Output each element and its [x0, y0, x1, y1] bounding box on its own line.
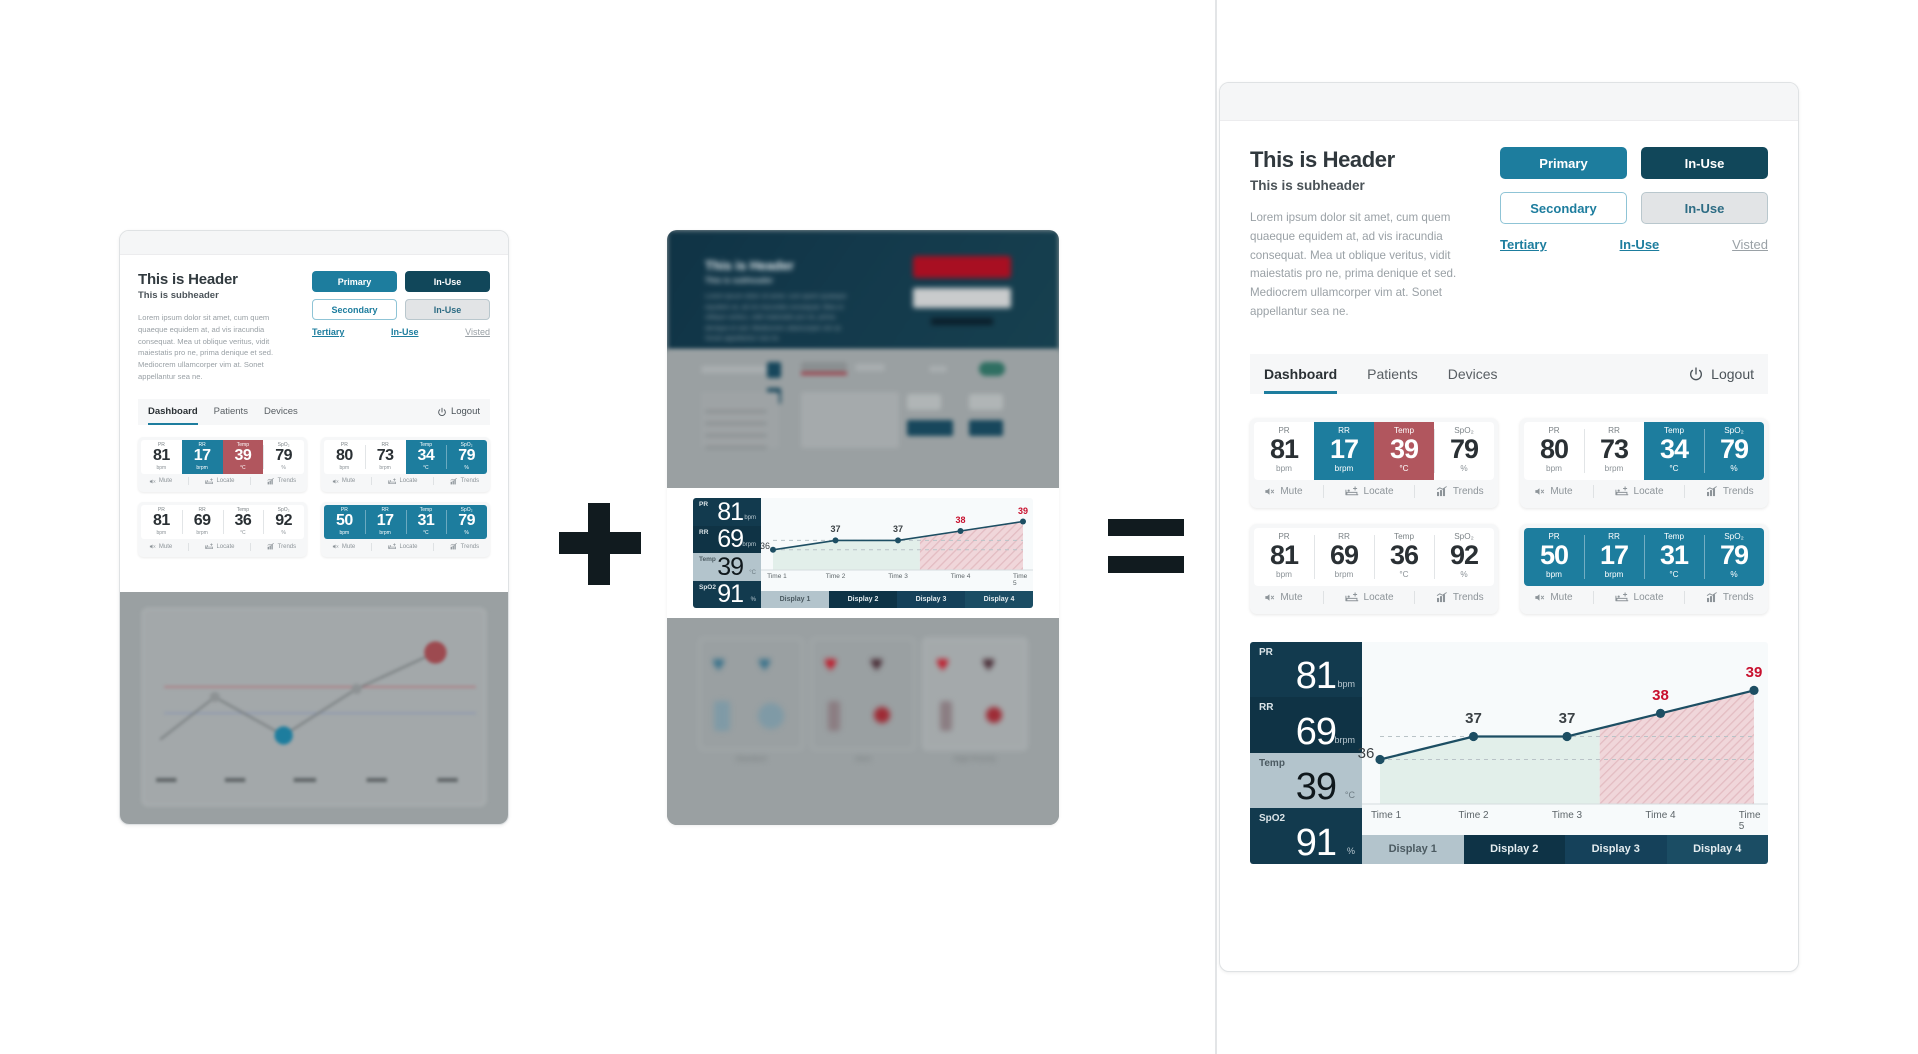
mute-action[interactable]: Mute: [332, 543, 355, 550]
x-axis-tick-5: Time 5: [1013, 573, 1027, 587]
tab-patients[interactable]: Patients: [214, 399, 248, 425]
vital-cell-pr[interactable]: PR 50 bpm: [1524, 528, 1584, 586]
logout-button-large[interactable]: Logout: [1688, 366, 1754, 382]
bar-chart-trends-icon: [267, 478, 275, 485]
bar-chart-trends-icon: [450, 478, 458, 485]
x-axis-tick-3: Time 3: [1552, 810, 1582, 821]
bed-locate-icon: [388, 543, 397, 550]
action-separator: [1323, 591, 1324, 604]
vital-unit: %: [263, 465, 304, 471]
trend-plot-mini: 3637373839Time 1Time 2Time 3Time 4Time 5: [761, 498, 1033, 591]
tab-dashboard-large[interactable]: Dashboard: [1264, 354, 1337, 394]
action-separator: [371, 477, 372, 485]
trends-action[interactable]: Trends: [1436, 592, 1484, 603]
data-point-2[interactable]: [1469, 732, 1478, 741]
vital-value: 36: [1374, 542, 1434, 569]
locate-label: Locate: [399, 544, 417, 550]
speaker-mute-icon: [332, 478, 339, 485]
vital-unit: bpm: [141, 465, 182, 471]
vital-unit: °C: [223, 530, 264, 536]
vitals-readout-row: PR 50 bpm RR 17 brpm Temp 31 °C SpO₂ 79 …: [1524, 528, 1764, 586]
blurred-line-chart: [142, 608, 486, 806]
action-separator: [1684, 591, 1685, 604]
tertiary-inuse-link-large[interactable]: In-Use: [1620, 237, 1660, 252]
focused-trend-section: PR 81 bpm RR 69 brpm Temp 39 °C SpO2 91 …: [667, 488, 1059, 618]
alert-range-band: [1600, 690, 1754, 804]
vitals-readout-row: PR 80 bpm RR 73 brpm Temp 34 °C SpO₂ 79 …: [1524, 422, 1764, 480]
trends-action[interactable]: Trends: [1706, 486, 1754, 497]
left-panel-body: This is Header This is subheader Lorem i…: [120, 255, 508, 383]
vital-cell-rr[interactable]: RR 17 brpm: [1584, 528, 1644, 586]
trend-tile-unit: bpm: [1337, 679, 1355, 689]
vitals-action-row: Mute Locate Trends: [1254, 586, 1494, 610]
secondary-button-large[interactable]: Secondary: [1500, 192, 1627, 224]
trend-tile-spo2[interactable]: SpO2 91 %: [1250, 808, 1362, 864]
vital-unit: brpm: [365, 530, 406, 536]
speaker-mute-icon: [1534, 486, 1545, 497]
mute-action[interactable]: Mute: [1264, 592, 1302, 603]
trend-tile-pr[interactable]: PR 81 bpm: [1250, 642, 1362, 698]
data-point-label-5: 39: [1018, 506, 1028, 516]
logout-button[interactable]: Logout: [437, 406, 480, 417]
display-tab-2[interactable]: Display 2: [829, 591, 897, 608]
mute-label: Mute: [342, 478, 355, 484]
trends-action[interactable]: Trends: [1436, 486, 1484, 497]
window-chrome-bar-large: [1220, 83, 1798, 121]
vital-cell-temp[interactable]: Temp 31 °C: [1644, 528, 1704, 586]
main-nav-large: Dashboard Patients Devices Logout: [1250, 354, 1768, 394]
bed-locate-icon: [1345, 486, 1359, 497]
data-point-label-2: 37: [1465, 710, 1482, 727]
x-axis-tick-2: Time 2: [826, 573, 846, 580]
vital-value: 39: [223, 448, 264, 465]
trend-tile-spo2[interactable]: SpO2 91 %: [693, 581, 761, 609]
bar-chart-trends-icon: [1706, 486, 1718, 497]
blurred-dark-header: This is Header This is subheader Lorem i…: [667, 230, 1059, 350]
locate-label: Locate: [1364, 486, 1394, 497]
vitals-action-row: Mute Locate Trends: [324, 539, 487, 554]
vital-cell-rr[interactable]: RR 69 brpm: [1314, 528, 1374, 586]
data-point-label-1: 36: [760, 541, 770, 551]
speaker-mute-icon: [149, 478, 156, 485]
bed-locate-icon: [205, 543, 214, 550]
blurred-tertiary-link: [931, 318, 993, 325]
locate-action[interactable]: Locate: [1345, 592, 1394, 603]
blurred-chart-overlay: [120, 592, 508, 824]
vital-value: 17: [365, 513, 406, 530]
vital-cell-rr[interactable]: RR 73 brpm: [365, 440, 406, 474]
vitals-card[interactable]: PR 50 bpm RR 17 brpm Temp 31 °C SpO₂ 79 …: [1520, 524, 1768, 614]
secondary-inuse-button-large[interactable]: In-Use: [1641, 192, 1768, 224]
trends-label: Trends: [278, 478, 296, 484]
intro-paragraph: Lorem ipsum dolor sit amet, cum quem qua…: [138, 312, 288, 383]
vital-unit: bpm: [324, 465, 365, 471]
tab-dashboard[interactable]: Dashboard: [148, 399, 198, 425]
primary-inuse-button-large[interactable]: In-Use: [1641, 147, 1768, 179]
trend-tile-label: RR: [699, 529, 708, 536]
vital-value: 36: [223, 513, 264, 530]
mute-label: Mute: [159, 544, 172, 550]
vital-unit: %: [1704, 569, 1764, 581]
bed-locate-icon: [1345, 592, 1359, 603]
data-point-3[interactable]: [895, 537, 901, 543]
right-panel-body: This is Header This is subheader Lorem i…: [1220, 121, 1798, 322]
vitals-readout-row: PR 80 bpm RR 73 brpm Temp 34 °C SpO₂ 79 …: [324, 440, 487, 474]
trend-tile-value: 69: [717, 527, 743, 552]
trend-tile-pr[interactable]: PR 81 bpm: [693, 498, 761, 526]
locate-label: Locate: [1634, 486, 1664, 497]
tab-devices-large[interactable]: Devices: [1448, 354, 1498, 394]
action-separator: [250, 477, 251, 485]
vital-cell-spo[interactable]: SpO₂ 79 %: [263, 440, 304, 474]
vital-unit: bpm: [1524, 569, 1584, 581]
vital-unit: %: [1434, 463, 1494, 475]
vital-cell-rr[interactable]: RR 17 brpm: [365, 505, 406, 539]
trend-tile-temp[interactable]: Temp 39 °C: [1250, 753, 1362, 809]
vital-unit: °C: [1374, 569, 1434, 581]
plus-operator-icon: [556, 500, 646, 590]
trend-tile-value: 39: [1296, 768, 1336, 806]
vital-cell-spo[interactable]: SpO₂ 79 %: [1704, 528, 1764, 586]
tab-devices[interactable]: Devices: [264, 399, 298, 425]
vital-unit: brpm: [1584, 569, 1644, 581]
blurred-icon-group-standard: ♥ ♥: [699, 638, 803, 750]
speaker-mute-icon: [332, 543, 339, 550]
trend-tile-unit: brpm: [1334, 735, 1355, 745]
data-point-1[interactable]: [770, 547, 776, 553]
trends-label: Trends: [278, 544, 296, 550]
locate-label: Locate: [216, 544, 234, 550]
data-point-4[interactable]: [1656, 709, 1665, 718]
bar-chart-trends-icon: [267, 543, 275, 550]
locate-action[interactable]: Locate: [205, 478, 235, 485]
vital-value: 79: [1704, 542, 1764, 569]
vital-cell-temp[interactable]: Temp 39 °C: [223, 440, 264, 474]
speaker-mute-icon: [149, 543, 156, 550]
trends-label: Trends: [1453, 486, 1484, 497]
right-button-group: Primary In-Use Secondary In-Use Tertiary…: [1500, 147, 1768, 322]
display-tab-3[interactable]: Display 3: [1565, 835, 1667, 864]
vital-unit: %: [446, 465, 487, 471]
vital-unit: bpm: [141, 530, 182, 536]
power-icon: [437, 407, 447, 417]
logout-label-large: Logout: [1711, 366, 1754, 382]
vital-unit: °C: [223, 465, 264, 471]
trend-tile-value: 81: [1296, 657, 1336, 695]
blurred-icon-group-high-priority: ♥ ♥: [923, 638, 1027, 750]
vital-cell-temp[interactable]: Temp 36 °C: [223, 505, 264, 539]
display-tab-4[interactable]: Display 4: [1667, 835, 1769, 864]
trend-chart-widget: PR 81 bpm RR 69 brpm Temp 39 °C SpO2 91 …: [1250, 642, 1768, 864]
vital-cell-rr[interactable]: RR 69 brpm: [182, 505, 223, 539]
display-tab-3[interactable]: Display 3: [897, 591, 965, 608]
display-tab-2[interactable]: Display 2: [1464, 835, 1566, 864]
vital-cell-spo[interactable]: SpO₂ 92 %: [1434, 528, 1494, 586]
vitals-action-row: Mute Locate Trends: [141, 474, 304, 489]
trends-label: Trends: [1453, 592, 1484, 603]
vital-unit: %: [263, 530, 304, 536]
trend-tile-label: PR: [699, 501, 708, 508]
vital-value: 73: [365, 448, 406, 465]
data-point-label-3: 37: [893, 524, 903, 534]
trend-tile-temp[interactable]: Temp 39 °C: [693, 553, 761, 581]
data-point-5[interactable]: [1020, 519, 1026, 525]
page-title-large: This is Header: [1250, 147, 1474, 173]
data-point-5[interactable]: [1749, 686, 1758, 695]
vital-value: 31: [1644, 542, 1704, 569]
locate-action[interactable]: Locate: [1345, 486, 1394, 497]
vital-cell-temp[interactable]: Temp 39 °C: [1374, 422, 1434, 480]
blurred-caption-high-priority: High Priority: [923, 756, 1027, 763]
action-separator: [1414, 485, 1415, 498]
vital-unit: bpm: [324, 530, 365, 536]
x-axis-tick-4: Time 4: [951, 573, 971, 580]
mute-label: Mute: [159, 478, 172, 484]
trend-tile-value: 91: [1296, 824, 1336, 862]
mute-action[interactable]: Mute: [149, 478, 172, 485]
trend-tile-unit: %: [1347, 846, 1355, 856]
blurred-icon-section: ♥ ♥ Standard ♥ ♥ Alert ♥ ♥: [667, 618, 1059, 825]
vital-value: 34: [406, 448, 447, 465]
bed-locate-icon: [1615, 486, 1629, 497]
blurred-caption-alert: Alert: [811, 756, 915, 763]
vital-unit: bpm: [1524, 463, 1584, 475]
vitals-readout-row: PR 50 bpm RR 17 brpm Temp 31 °C SpO₂ 79 …: [324, 505, 487, 539]
bed-locate-icon: [388, 478, 397, 485]
locate-action[interactable]: Locate: [1615, 486, 1664, 497]
action-separator: [1593, 485, 1594, 498]
vitals-card-grid-large: PR 81 bpm RR 17 brpm Temp 39 °C SpO₂ 79 …: [1250, 418, 1768, 614]
vital-cell-temp[interactable]: Temp 34 °C: [406, 440, 447, 474]
vitals-action-row: Mute Locate Trends: [1254, 480, 1494, 504]
vitals-card[interactable]: PR 80 bpm RR 73 brpm Temp 34 °C SpO₂ 79 …: [321, 437, 490, 492]
logout-label: Logout: [451, 406, 480, 417]
vital-unit: °C: [1374, 463, 1434, 475]
trend-display-tabs-mini: Display 1 Display 2 Display 3 Display 4: [761, 591, 1033, 608]
vital-cell-pr[interactable]: PR 80 bpm: [1524, 422, 1584, 480]
window-chrome-bar: [120, 231, 508, 255]
tertiary-visited-link[interactable]: Visted: [465, 327, 490, 337]
mute-action[interactable]: Mute: [1534, 592, 1572, 603]
vital-value: 81: [141, 448, 182, 465]
blurred-caption-standard: Standard: [699, 756, 803, 763]
vitals-card[interactable]: PR 81 bpm RR 69 brpm Temp 36 °C SpO₂ 92 …: [1250, 524, 1498, 614]
locate-action[interactable]: Locate: [205, 543, 235, 550]
vital-unit: %: [1434, 569, 1494, 581]
vitals-readout-row: PR 81 bpm RR 69 brpm Temp 36 °C SpO₂ 92 …: [1254, 528, 1494, 586]
data-point-label-1: 36: [1358, 745, 1375, 762]
vital-cell-pr[interactable]: PR 81 bpm: [1254, 422, 1314, 480]
speaker-mute-icon: [1264, 592, 1275, 603]
vital-cell-spo[interactable]: SpO₂ 92 %: [263, 505, 304, 539]
vitals-readout-row: PR 81 bpm RR 69 brpm Temp 36 °C SpO₂ 92 …: [141, 505, 304, 539]
vitals-card[interactable]: PR 81 bpm RR 17 brpm Temp 39 °C SpO₂ 79 …: [138, 437, 307, 492]
mute-action[interactable]: Mute: [1264, 486, 1302, 497]
design-panel-middle: This is Header This is subheader Lorem i…: [667, 230, 1059, 825]
vitals-card[interactable]: PR 81 bpm RR 17 brpm Temp 39 °C SpO₂ 79 …: [1250, 418, 1498, 508]
data-point-3[interactable]: [1562, 732, 1571, 741]
vital-cell-rr[interactable]: RR 73 brpm: [1584, 422, 1644, 480]
primary-inuse-button[interactable]: In-Use: [405, 271, 490, 292]
primary-button-large[interactable]: Primary: [1500, 147, 1627, 179]
vital-cell-spo[interactable]: SpO₂ 79 %: [1704, 422, 1764, 480]
vitals-card[interactable]: PR 50 bpm RR 17 brpm Temp 31 °C SpO₂ 79 …: [321, 502, 490, 557]
trends-action[interactable]: Trends: [450, 543, 479, 550]
locate-label: Locate: [1634, 592, 1664, 603]
trend-plot: 3637373839Time 1Time 2Time 3Time 4Time 5: [1362, 642, 1768, 835]
vital-cell-temp[interactable]: Temp 31 °C: [406, 505, 447, 539]
mute-action[interactable]: Mute: [332, 478, 355, 485]
primary-button[interactable]: Primary: [312, 271, 397, 292]
vital-cell-rr[interactable]: RR 17 brpm: [1314, 422, 1374, 480]
intro-paragraph-large: Lorem ipsum dolor sit amet, cum quem qua…: [1250, 209, 1474, 322]
data-point-4[interactable]: [958, 528, 964, 534]
tertiary-visited-link-large[interactable]: Visted: [1732, 237, 1768, 252]
blurred-header-paragraph: Lorem ipsum dolor sit amet, cum quem qua…: [705, 292, 857, 345]
data-point-label-4: 38: [955, 515, 965, 525]
blurred-form-section: [667, 350, 1059, 488]
vital-unit: °C: [406, 465, 447, 471]
action-separator: [1593, 591, 1594, 604]
main-nav: Dashboard Patients Devices Logout: [138, 399, 490, 425]
tertiary-inuse-link[interactable]: In-Use: [391, 327, 419, 337]
trends-action[interactable]: Trends: [267, 543, 296, 550]
trend-tile-label: SpO2: [699, 584, 716, 591]
vital-cell-pr[interactable]: PR 50 bpm: [324, 505, 365, 539]
vitals-readout-row: PR 81 bpm RR 17 brpm Temp 39 °C SpO₂ 79 …: [141, 440, 304, 474]
trend-tile-value: 91: [717, 582, 743, 607]
bed-locate-icon: [205, 478, 214, 485]
tab-patients-large[interactable]: Patients: [1367, 354, 1418, 394]
vital-cell-pr[interactable]: PR 81 bpm: [141, 505, 182, 539]
blurred-header-title: This is Header: [705, 258, 794, 273]
trend-tile-rr[interactable]: RR 69 brpm: [693, 526, 761, 554]
vital-unit: bpm: [1254, 463, 1314, 475]
mute-action[interactable]: Mute: [149, 543, 172, 550]
vital-cell-pr[interactable]: PR 81 bpm: [141, 440, 182, 474]
locate-action[interactable]: Locate: [388, 478, 418, 485]
blurred-icon-group-alert: ♥ ♥: [811, 638, 915, 750]
trend-tile-label: SpO2: [1259, 813, 1285, 824]
trend-tiles-mini: PR 81 bpm RR 69 brpm Temp 39 °C SpO2 91 …: [693, 498, 761, 608]
vital-cell-temp[interactable]: Temp 36 °C: [1374, 528, 1434, 586]
trend-tile-value: 39: [717, 555, 743, 580]
bar-chart-trends-icon: [450, 543, 458, 550]
bar-chart-trends-icon: [1706, 592, 1718, 603]
vital-value: 73: [1584, 436, 1644, 463]
vital-cell-spo[interactable]: SpO₂ 79 %: [446, 505, 487, 539]
vitals-action-row: Mute Locate Trends: [1524, 586, 1764, 610]
x-axis-tick-1: Time 1: [767, 573, 787, 580]
data-point-2[interactable]: [833, 537, 839, 543]
blurred-secondary-button: [913, 288, 1011, 308]
vitals-card[interactable]: PR 80 bpm RR 73 brpm Temp 34 °C SpO₂ 79 …: [1520, 418, 1768, 508]
trend-tile-rr[interactable]: RR 69 brpm: [1250, 697, 1362, 753]
vital-cell-spo[interactable]: SpO₂ 79 %: [446, 440, 487, 474]
mute-action[interactable]: Mute: [1534, 486, 1572, 497]
vital-unit: brpm: [1314, 569, 1374, 581]
trends-label: Trends: [1723, 486, 1754, 497]
vitals-action-row: Mute Locate Trends: [141, 539, 304, 554]
vital-value: 50: [324, 513, 365, 530]
trend-tile-unit: brpm: [742, 542, 756, 548]
vital-cell-rr[interactable]: RR 17 brpm: [182, 440, 223, 474]
trends-action[interactable]: Trends: [450, 478, 479, 485]
vital-cell-pr[interactable]: PR 81 bpm: [1254, 528, 1314, 586]
x-axis-tick-2: Time 2: [1458, 810, 1488, 821]
secondary-button[interactable]: Secondary: [312, 299, 397, 320]
x-axis-tick-5: Time 5: [1739, 810, 1761, 832]
mute-label: Mute: [342, 544, 355, 550]
vital-value: 80: [324, 448, 365, 465]
vital-value: 92: [1434, 542, 1494, 569]
vital-value: 79: [446, 513, 487, 530]
vital-value: 79: [263, 448, 304, 465]
action-separator: [188, 477, 189, 485]
data-point-label-3: 37: [1559, 710, 1576, 727]
secondary-inuse-button[interactable]: In-Use: [405, 299, 490, 320]
vital-unit: brpm: [1314, 463, 1374, 475]
trend-tile-label: Temp: [1259, 758, 1285, 769]
vital-value: 39: [1374, 436, 1434, 463]
vital-unit: °C: [406, 530, 447, 536]
vertical-divider: [1215, 0, 1217, 1054]
display-tab-1[interactable]: Display 1: [1362, 835, 1464, 864]
trends-label: Trends: [461, 478, 479, 484]
vital-unit: °C: [1644, 463, 1704, 475]
bed-locate-icon: [1615, 592, 1629, 603]
action-separator: [433, 543, 434, 551]
vital-value: 50: [1524, 542, 1584, 569]
trends-action[interactable]: Trends: [1706, 592, 1754, 603]
display-tab-1[interactable]: Display 1: [761, 591, 829, 608]
vital-unit: brpm: [182, 465, 223, 471]
trends-action[interactable]: Trends: [267, 478, 296, 485]
trend-tile-unit: °C: [749, 570, 756, 576]
tertiary-link[interactable]: Tertiary: [312, 327, 344, 337]
vital-value: 81: [141, 513, 182, 530]
left-button-group: Primary In-Use Secondary In-Use Tertiary…: [312, 271, 490, 383]
vital-value: 17: [1314, 436, 1374, 463]
speaker-mute-icon: [1264, 486, 1275, 497]
vital-cell-spo[interactable]: SpO₂ 79 %: [1434, 422, 1494, 480]
vitals-card-grid: PR 81 bpm RR 17 brpm Temp 39 °C SpO₂ 79 …: [138, 437, 490, 558]
data-point-1[interactable]: [1375, 755, 1384, 764]
vital-cell-temp[interactable]: Temp 34 °C: [1644, 422, 1704, 480]
vital-unit: %: [1704, 463, 1764, 475]
action-separator: [250, 543, 251, 551]
trend-display-tabs: Display 1 Display 2 Display 3 Display 4: [1362, 835, 1768, 864]
vital-value: 31: [406, 513, 447, 530]
tertiary-link-large[interactable]: Tertiary: [1500, 237, 1547, 252]
locate-label: Locate: [216, 478, 234, 484]
vitals-card[interactable]: PR 81 bpm RR 69 brpm Temp 36 °C SpO₂ 92 …: [138, 502, 307, 557]
vital-unit: brpm: [182, 530, 223, 536]
trend-tiles: PR 81 bpm RR 69 brpm Temp 39 °C SpO2 91 …: [1250, 642, 1362, 864]
locate-action[interactable]: Locate: [1615, 592, 1664, 603]
display-tab-4[interactable]: Display 4: [965, 591, 1033, 608]
trend-tile-label: RR: [1259, 702, 1273, 713]
action-separator: [1414, 591, 1415, 604]
locate-label: Locate: [399, 478, 417, 484]
speaker-mute-icon: [1534, 592, 1545, 603]
locate-action[interactable]: Locate: [388, 543, 418, 550]
vital-cell-pr[interactable]: PR 80 bpm: [324, 440, 365, 474]
right-header-text-block: This is Header This is subheader Lorem i…: [1250, 147, 1474, 322]
trend-chart-widget-mini: PR 81 bpm RR 69 brpm Temp 39 °C SpO2 91 …: [693, 498, 1033, 608]
bar-chart-trends-icon: [1436, 486, 1448, 497]
vital-value: 17: [182, 448, 223, 465]
